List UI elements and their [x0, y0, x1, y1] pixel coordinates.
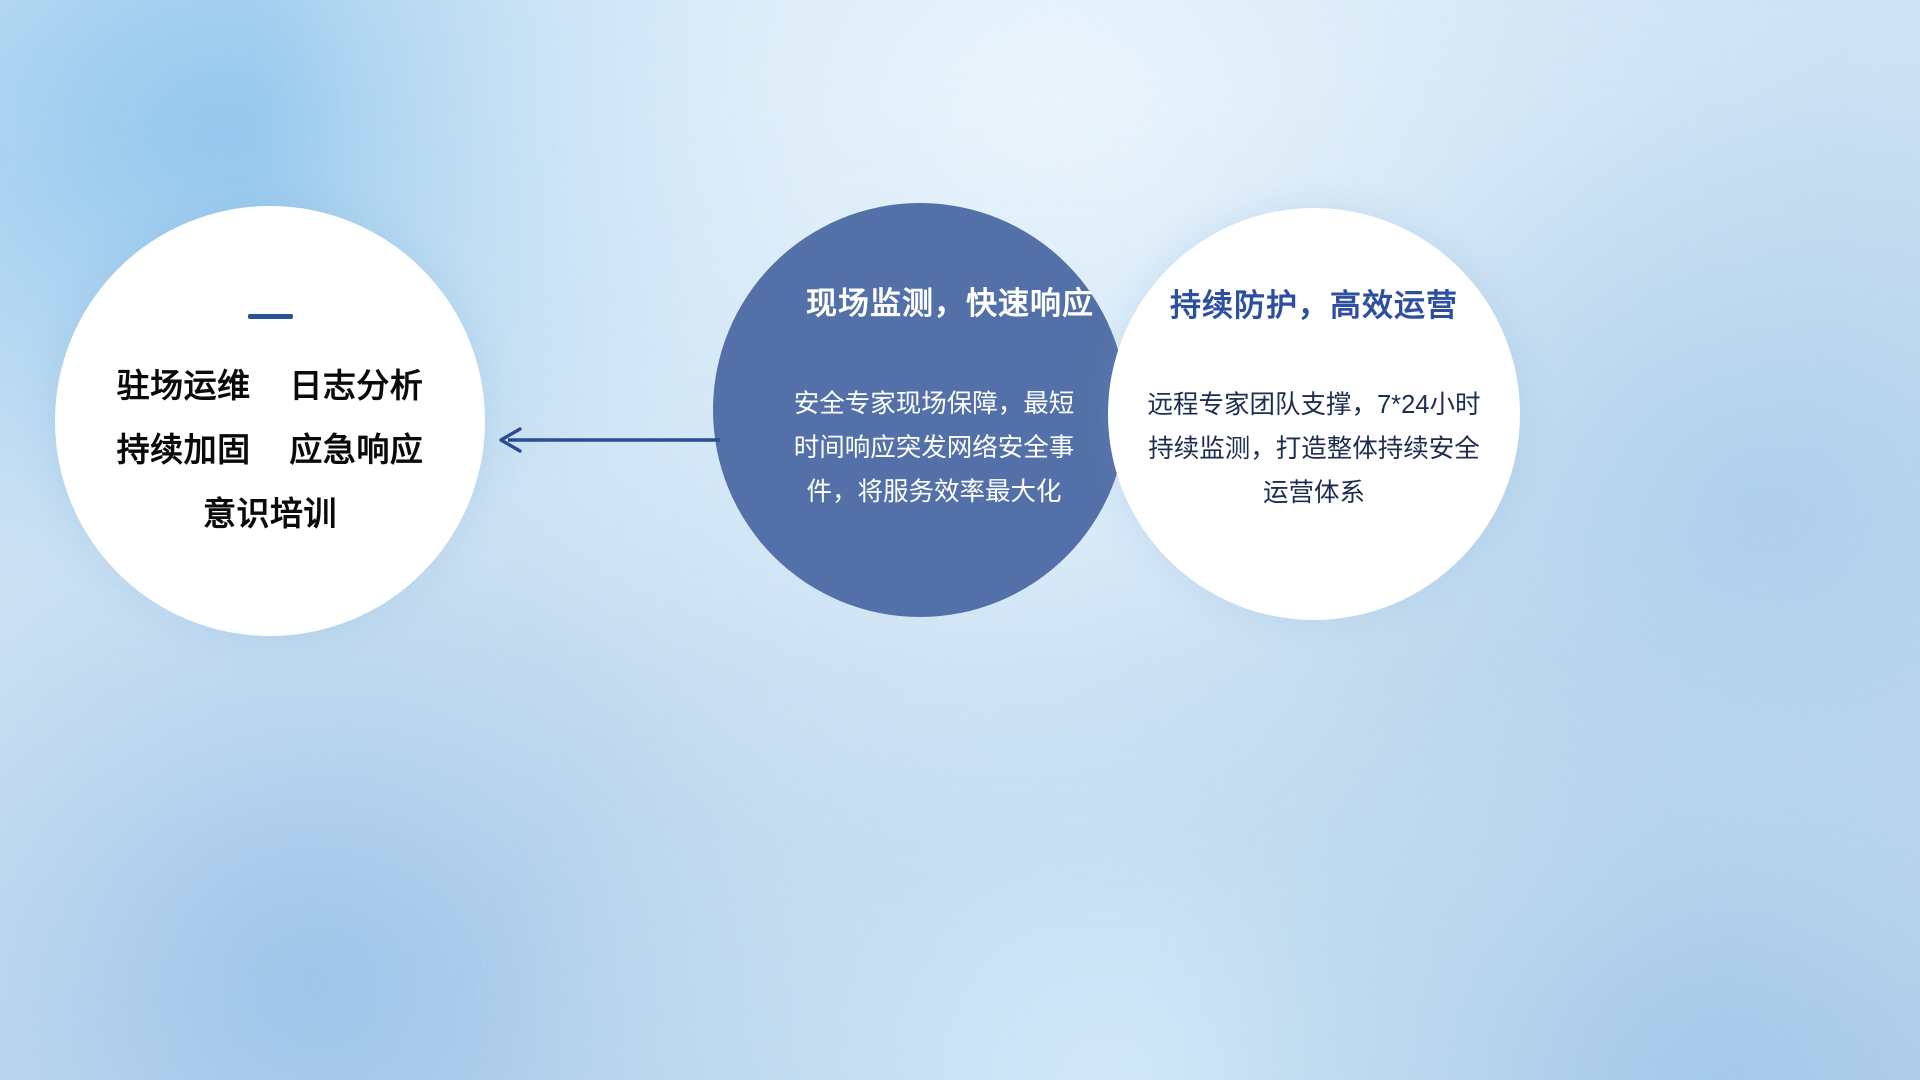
middle-circle-shape — [713, 203, 1127, 617]
slide-canvas: 驻场运维 日志分析 持续加固 应急响应 意识培训 现场监测，快速响应 安全专家现… — [0, 0, 1920, 1080]
left-arrow-icon — [492, 418, 722, 462]
right-circle-shape — [1108, 208, 1520, 620]
left-circle-shape — [55, 206, 485, 636]
